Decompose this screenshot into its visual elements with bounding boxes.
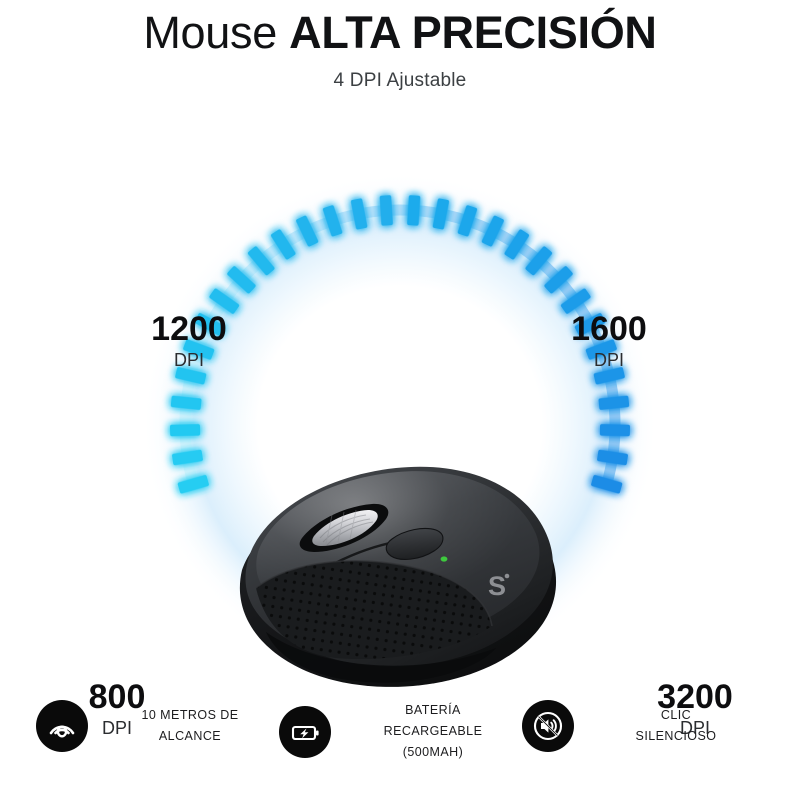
feature-silent-click-label: CLIC SILENCIOSO bbox=[588, 705, 764, 747]
feature-silent-click-line-1: CLIC bbox=[588, 705, 764, 726]
dpi-unit-1600: DPI bbox=[539, 349, 679, 371]
feature-battery-label: BATERÍA RECARGEABLE (500MAH) bbox=[345, 700, 521, 763]
title-light-part: Mouse bbox=[143, 7, 289, 58]
feature-row: 10 METROS DE ALCANCE BATERÍA RECARGEABLE… bbox=[0, 700, 800, 800]
feature-battery: BATERÍA RECARGEABLE (500MAH) bbox=[279, 700, 521, 763]
product-infographic: Mouse ALTA PRECISIÓN 4 DPI Ajustable bbox=[0, 0, 800, 800]
page-title: Mouse ALTA PRECISIÓN bbox=[0, 6, 800, 60]
arc-tick bbox=[407, 195, 420, 226]
svg-text:S: S bbox=[488, 571, 506, 601]
feature-range-line-1: 10 METROS DE bbox=[102, 705, 278, 726]
arc-tick bbox=[380, 195, 393, 226]
feature-battery-line-2: RECARGEABLE bbox=[345, 721, 521, 742]
mouse-product-image: S bbox=[196, 420, 596, 710]
feature-battery-line-3: (500MAH) bbox=[345, 742, 521, 763]
mute-speaker-glyph bbox=[532, 710, 564, 742]
dpi-value-1200: 1200 bbox=[119, 310, 259, 348]
title-bold-part: ALTA PRECISIÓN bbox=[289, 7, 656, 58]
dpi-unit-1200: DPI bbox=[119, 349, 259, 371]
page-subtitle: 4 DPI Ajustable bbox=[0, 70, 800, 92]
signal-range-glyph bbox=[46, 710, 78, 742]
feature-silent-click: CLIC SILENCIOSO bbox=[522, 700, 764, 752]
header: Mouse ALTA PRECISIÓN 4 DPI Ajustable bbox=[0, 0, 800, 92]
feature-range-label: 10 METROS DE ALCANCE bbox=[102, 705, 278, 747]
feature-battery-line-1: BATERÍA bbox=[345, 700, 521, 721]
led-indicator bbox=[441, 556, 448, 561]
feature-range: 10 METROS DE ALCANCE bbox=[36, 700, 278, 752]
feature-silent-click-line-2: SILENCIOSO bbox=[588, 726, 764, 747]
arc-tick bbox=[600, 424, 630, 436]
dpi-gauge-stage: 1200 DPI 1600 DPI 800 DPI 3200 DPI bbox=[0, 120, 800, 640]
battery-charge-icon bbox=[279, 706, 331, 758]
dpi-label-1200: 1200 DPI bbox=[119, 310, 259, 371]
feature-range-line-2: ALCANCE bbox=[102, 726, 278, 747]
mute-speaker-icon bbox=[522, 700, 574, 752]
dpi-label-1600: 1600 DPI bbox=[539, 310, 679, 371]
battery-charge-glyph bbox=[289, 716, 321, 748]
signal-range-icon bbox=[36, 700, 88, 752]
dpi-value-1600: 1600 bbox=[539, 310, 679, 348]
mouse-illustration: S bbox=[196, 420, 596, 710]
